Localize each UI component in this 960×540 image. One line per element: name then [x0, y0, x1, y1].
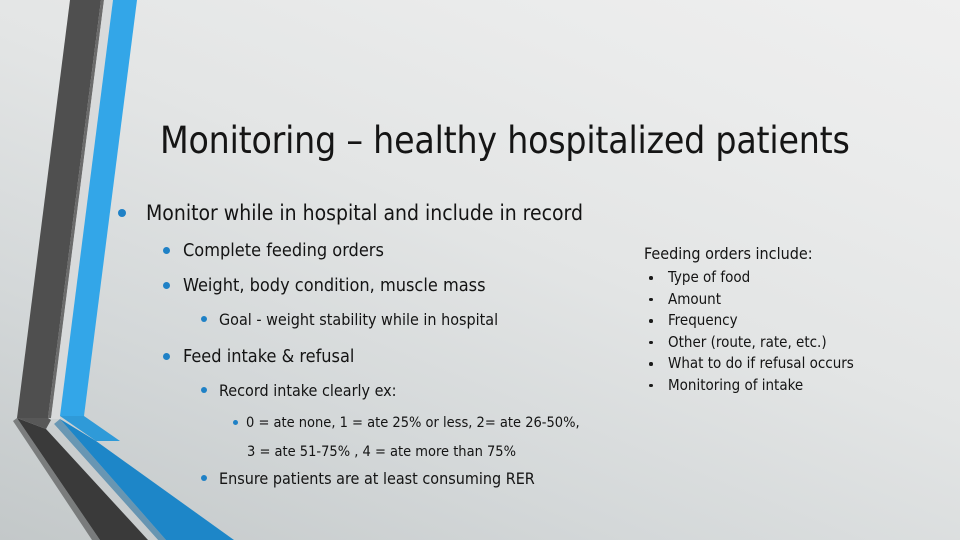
bullet-label: Weight, body condition, muscle mass — [183, 274, 636, 298]
bullet-item-level3: Ensure patients are at least consuming R… — [116, 468, 636, 490]
bullet-item-level1: Monitor while in hospital and include in… — [116, 200, 636, 226]
side-list-label: Amount — [668, 289, 944, 311]
bullet-dot-icon — [118, 209, 126, 217]
bullet-label: Feed intake & refusal — [183, 345, 636, 369]
side-text-block: Feeding orders include: Type of food Amo… — [644, 243, 944, 396]
bullet-dot-icon — [201, 387, 207, 393]
side-list-label: What to do if refusal occurs — [668, 353, 944, 375]
bullet-dot-icon — [163, 282, 170, 289]
bullet-label: 3 = ate 51-75% , 4 = ate more than 75% — [247, 442, 636, 462]
side-list-label: Monitoring of intake — [668, 375, 944, 397]
bullet-item-level3: Goal - weight stability while in hospita… — [116, 309, 636, 331]
bullet-item-level2: Complete feeding orders — [116, 239, 636, 263]
side-list-item: Frequency — [644, 310, 944, 332]
side-block-heading: Feeding orders include: — [644, 243, 944, 265]
list-spacer — [116, 336, 636, 345]
bullet-dot-icon — [649, 384, 653, 388]
side-list-item: Type of food — [644, 267, 944, 289]
slide-canvas: Monitoring – healthy hospitalized patien… — [0, 0, 960, 540]
bullet-dot-icon — [163, 247, 170, 254]
bullet-label: Complete feeding orders — [183, 239, 636, 263]
body-bullet-list: Monitor while in hospital and include in… — [116, 200, 636, 495]
side-list-item: Other (route, rate, etc.) — [644, 332, 944, 354]
side-list-label: Frequency — [668, 310, 944, 332]
chevron-gray-fold-facet — [17, 418, 51, 429]
bullet-item-level4: 0 = ate none, 1 = ate 25% or less, 2= at… — [116, 413, 636, 433]
bullet-dot-icon — [649, 362, 653, 366]
chevron-upper-separator — [51, 0, 113, 419]
bullet-dot-icon — [201, 316, 207, 322]
side-list-item: What to do if refusal occurs — [644, 353, 944, 375]
side-list-label: Type of food — [668, 267, 944, 289]
bullet-dot-icon — [649, 341, 653, 345]
side-list-item: Amount — [644, 289, 944, 311]
bullet-dot-icon — [163, 353, 170, 360]
bullet-label: Goal - weight stability while in hospita… — [219, 309, 636, 331]
side-list-label: Other (route, rate, etc.) — [668, 332, 944, 354]
side-list-item: Monitoring of intake — [644, 375, 944, 397]
bullet-label: 0 = ate none, 1 = ate 25% or less, 2= at… — [246, 413, 636, 433]
bullet-item-level3: Record intake clearly ex: — [116, 380, 636, 402]
bullet-label: Monitor while in hospital and include in… — [146, 200, 636, 226]
bullet-dot-icon — [201, 475, 207, 481]
bullet-label: Ensure patients are at least consuming R… — [219, 468, 636, 490]
chevron-upper-gray-bevel — [48, 0, 104, 418]
bullet-dot-icon — [649, 276, 653, 280]
chevron-upper-gray-face — [17, 0, 101, 418]
chevron-blue-fold-facet — [60, 416, 120, 441]
bullet-item-level2: Feed intake & refusal — [116, 345, 636, 369]
bullet-dot-icon — [649, 298, 653, 302]
bullet-label: Record intake clearly ex: — [219, 380, 636, 402]
bullet-item-level2: Weight, body condition, muscle mass — [116, 274, 636, 298]
chevron-lower-gray-edge — [13, 418, 100, 540]
bullet-item-level4-continuation: 3 = ate 51-75% , 4 = ate more than 75% — [116, 442, 636, 462]
bullet-dot-icon — [649, 319, 653, 323]
bullet-dot-icon — [233, 420, 238, 425]
page-title: Monitoring – healthy hospitalized patien… — [160, 118, 900, 163]
